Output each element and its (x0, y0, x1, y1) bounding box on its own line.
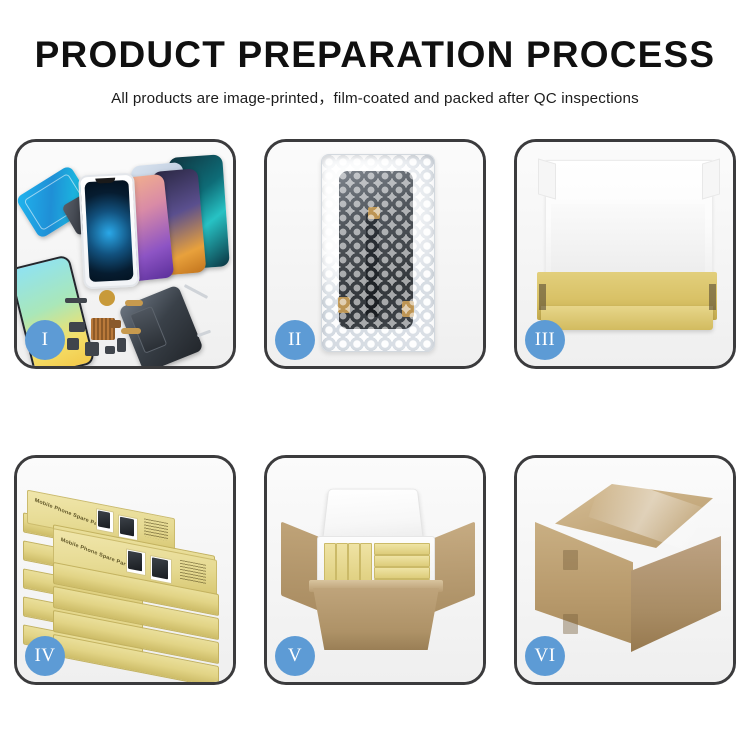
carton-handle-tab-bottom (563, 614, 578, 634)
repair-tweezers (184, 284, 208, 299)
box-spec-lines-lower (180, 560, 206, 585)
carton-left-face (535, 522, 633, 644)
box-window-screen-upper-2 (120, 517, 134, 537)
yellow-box-front-wall (541, 306, 713, 330)
process-step-card-3: III (514, 139, 736, 369)
packed-yellow-box-7 (374, 567, 430, 579)
header: PRODUCT PREPARATION PROCESS All products… (0, 36, 750, 108)
inner-foam-pad (551, 204, 705, 276)
photo-sealed-shipping-carton: VI (517, 458, 733, 682)
phone-internal-chassis (118, 285, 204, 369)
box-spec-lines-upper (144, 518, 168, 541)
sealed-carton (535, 484, 721, 654)
photo-stacked-retail-boxes: Mobile Phone Spare Parts Mobile Phone Sp… (17, 458, 233, 682)
box-window-screen-lower-2 (152, 557, 168, 579)
infographic-page: PRODUCT PREPARATION PROCESS All products… (0, 0, 750, 750)
process-step-card-4: Mobile Phone Spare Parts Mobile Phone Sp… (14, 455, 236, 685)
spare-part-earpiece-mesh (65, 298, 87, 303)
box-window-screen-upper-1 (98, 510, 110, 528)
spare-part-chip (109, 320, 121, 328)
photo-foam-carton-packing: V (267, 458, 483, 682)
bubble-wrap-sheen (322, 155, 434, 351)
spare-part-camera-module (85, 342, 99, 356)
photo-phone-parts-assortment: I (17, 142, 233, 366)
page-title: PRODUCT PREPARATION PROCESS (0, 36, 750, 75)
step-badge-3: III (525, 320, 565, 360)
lid-tab-left (538, 158, 556, 199)
carton-right-face (631, 536, 721, 652)
packed-yellow-box-5 (374, 543, 430, 555)
step-badge-4: IV (25, 636, 65, 676)
spare-part-speaker (99, 290, 115, 306)
lid-tab-right (702, 158, 720, 199)
spare-part-flex-cable-2 (121, 328, 141, 334)
bubble-wrap-bag (321, 154, 435, 352)
spare-part-bracket-2 (67, 338, 79, 350)
step-badge-1: I (25, 320, 65, 360)
step-badge-2: II (275, 320, 315, 360)
carton-handle-tab-top (563, 550, 578, 570)
process-step-card-6: VI (514, 455, 736, 685)
tempered-glass-protector (78, 173, 140, 290)
step-badge-5: V (275, 636, 315, 676)
spare-part-flex-cable-1 (125, 300, 143, 306)
process-step-grid: I II (14, 139, 736, 685)
open-flat-box (537, 160, 717, 338)
box-label-text-upper: Mobile Phone Spare Parts (34, 497, 105, 530)
page-subtitle: All products are image-printed，film-coat… (0, 86, 750, 108)
carton-body (313, 588, 439, 650)
box-edge-shadow-right (709, 284, 716, 310)
packed-yellow-box-6 (374, 555, 430, 567)
process-step-card-5: V (264, 455, 486, 685)
step-badge-6: VI (525, 636, 565, 676)
spare-part-sim-tray (117, 338, 126, 352)
photo-open-flat-box-with-foam: III (517, 142, 733, 366)
photo-bubble-wrapped-screen: II (267, 142, 483, 366)
box-window-screen-lower-1 (128, 551, 142, 572)
process-step-card-2: II (264, 139, 486, 369)
process-step-card-1: I (14, 139, 236, 369)
box-edge-shadow-left (539, 284, 546, 310)
repair-screwdriver (197, 330, 211, 338)
open-shipping-carton (281, 480, 475, 660)
spare-part-bracket-1 (69, 322, 85, 332)
spare-part-connector (105, 346, 115, 354)
